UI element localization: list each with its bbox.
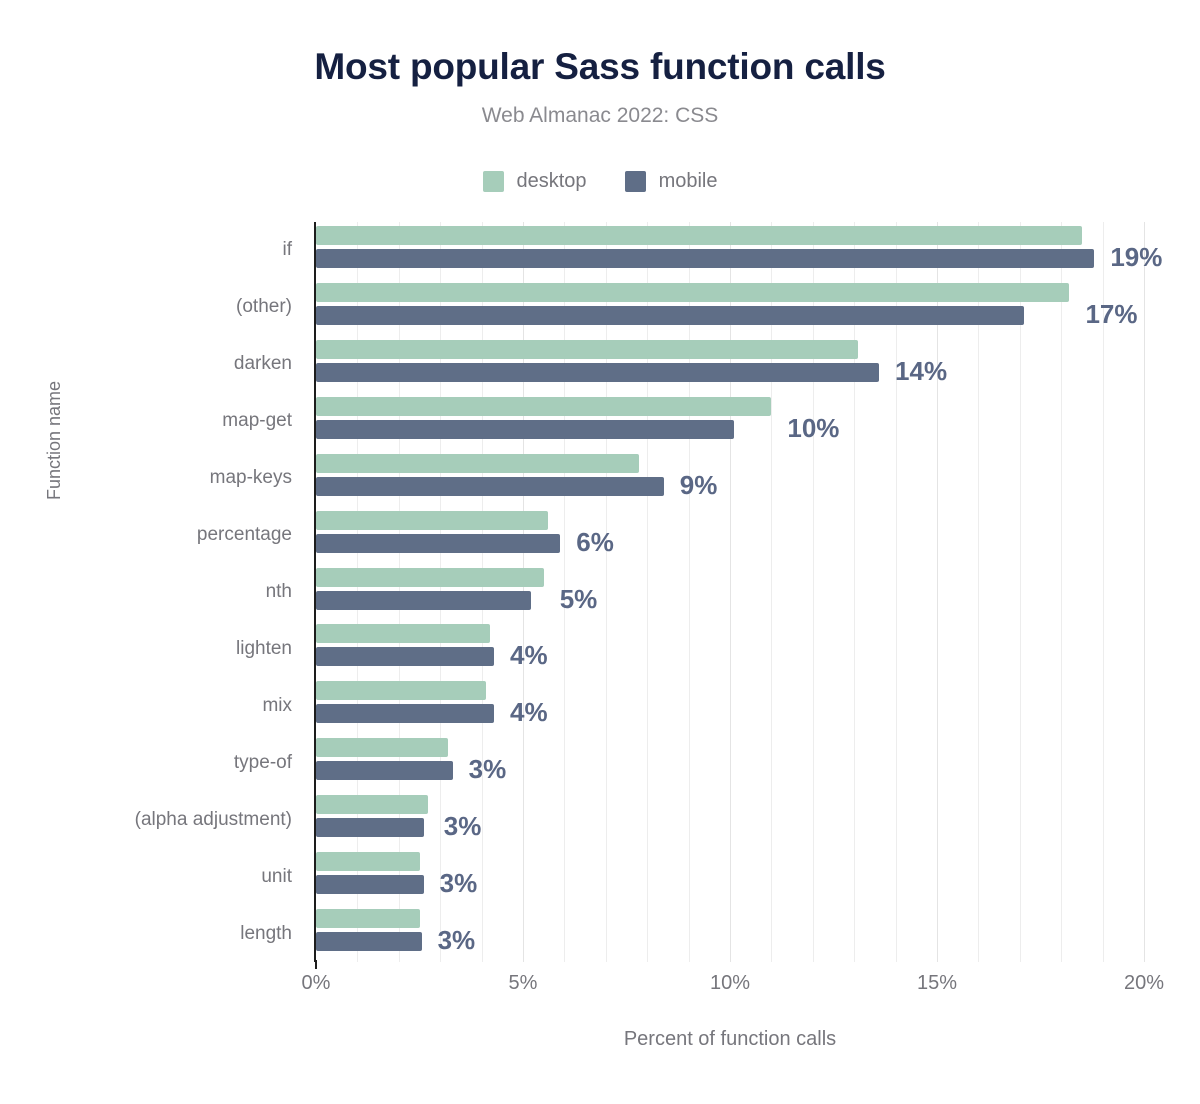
bar-row[interactable]: 17% [316,279,1144,336]
plot-area: 19%17%14%10%9%6%5%4%4%3%3%3%3% [316,222,1144,962]
bar-desktop[interactable] [316,795,428,814]
bar-desktop[interactable] [316,340,858,359]
bar-value-label: 10% [787,413,839,444]
legend-item-mobile[interactable]: mobile [625,170,718,193]
y-axis-category-label: nth [266,581,292,603]
chart-legend: desktop mobile [0,170,1200,193]
bar-row[interactable]: 3% [316,905,1144,962]
bar-desktop[interactable] [316,909,420,928]
bar-desktop[interactable] [316,226,1082,245]
bar-desktop[interactable] [316,454,639,473]
bar-desktop[interactable] [316,738,448,757]
y-axis-category-label: (alpha adjustment) [135,809,292,831]
x-axis-tick-mark [315,960,317,969]
bar-value-label: 19% [1110,242,1162,273]
bar-desktop[interactable] [316,397,771,416]
bar-row[interactable]: 3% [316,848,1144,905]
legend-item-desktop[interactable]: desktop [483,170,587,193]
y-axis-category-label: map-get [222,410,292,432]
y-axis-category-label: if [283,239,293,261]
bar-rows: 19%17%14%10%9%6%5%4%4%3%3%3%3% [316,222,1144,962]
bar-value-label: 5% [560,584,598,615]
x-axis-tick-label: 15% [917,972,957,995]
bar-row[interactable]: 5% [316,564,1144,621]
bar-row[interactable]: 6% [316,507,1144,564]
bar-value-label: 9% [680,470,718,501]
bar-mobile[interactable] [316,704,494,723]
bar-value-label: 3% [444,811,482,842]
legend-label-mobile: mobile [659,170,718,193]
bar-mobile[interactable] [316,477,664,496]
bar-value-label: 4% [510,640,548,671]
legend-label-desktop: desktop [517,170,587,193]
y-axis-category-label: lighten [236,638,292,660]
bar-mobile[interactable] [316,932,422,951]
bar-mobile[interactable] [316,647,494,666]
x-axis-tick-label: 20% [1124,972,1164,995]
bar-desktop[interactable] [316,511,548,530]
y-axis-category-label: darken [234,353,292,375]
bar-value-label: 4% [510,697,548,728]
y-axis-category-label: length [240,923,292,945]
bar-row[interactable]: 9% [316,450,1144,507]
bar-row[interactable]: 3% [316,791,1144,848]
bar-desktop[interactable] [316,568,544,587]
bar-value-label: 3% [469,754,507,785]
legend-swatch-desktop [483,171,504,192]
y-axis-category-label: mix [262,695,292,717]
x-axis-tick-label: 0% [302,972,331,995]
bar-row[interactable]: 10% [316,393,1144,450]
bar-desktop[interactable] [316,624,490,643]
bar-mobile[interactable] [316,875,424,894]
x-axis-tick-label: 5% [509,972,538,995]
bar-mobile[interactable] [316,363,879,382]
bar-mobile[interactable] [316,306,1024,325]
bar-mobile[interactable] [316,249,1094,268]
chart-title: Most popular Sass function calls [0,46,1200,88]
y-axis-category-label: map-keys [210,467,292,489]
legend-swatch-mobile [625,171,646,192]
x-axis-ticks: 0%5%10%15%20% [316,962,1144,1002]
bar-row[interactable]: 3% [316,734,1144,791]
bar-value-label: 6% [576,527,614,558]
bar-value-label: 3% [438,925,476,956]
gridline [1144,222,1145,962]
bar-value-label: 3% [440,868,478,899]
bar-row[interactable]: 19% [316,222,1144,279]
bar-desktop[interactable] [316,681,486,700]
chart-subtitle: Web Almanac 2022: CSS [0,104,1200,128]
bar-mobile[interactable] [316,591,531,610]
bar-mobile[interactable] [316,420,734,439]
y-axis-category-label: percentage [197,524,292,546]
y-axis-category-label: (other) [236,296,292,318]
chart-page: Most popular Sass function calls Web Alm… [0,0,1200,1104]
bar-value-label: 17% [1085,299,1137,330]
bar-mobile[interactable] [316,534,560,553]
y-axis-category-label: unit [261,866,292,888]
bar-desktop[interactable] [316,283,1069,302]
bar-row[interactable]: 4% [316,677,1144,734]
bar-row[interactable]: 4% [316,620,1144,677]
y-axis-category-labels: if(other)darkenmap-getmap-keyspercentage… [0,222,304,962]
bar-row[interactable]: 14% [316,336,1144,393]
bar-mobile[interactable] [316,818,424,837]
x-axis-title: Percent of function calls [316,1028,1144,1051]
x-axis-tick-label: 10% [710,972,750,995]
bar-desktop[interactable] [316,852,420,871]
bar-value-label: 14% [895,356,947,387]
y-axis-category-label: type-of [234,752,292,774]
bar-mobile[interactable] [316,761,453,780]
